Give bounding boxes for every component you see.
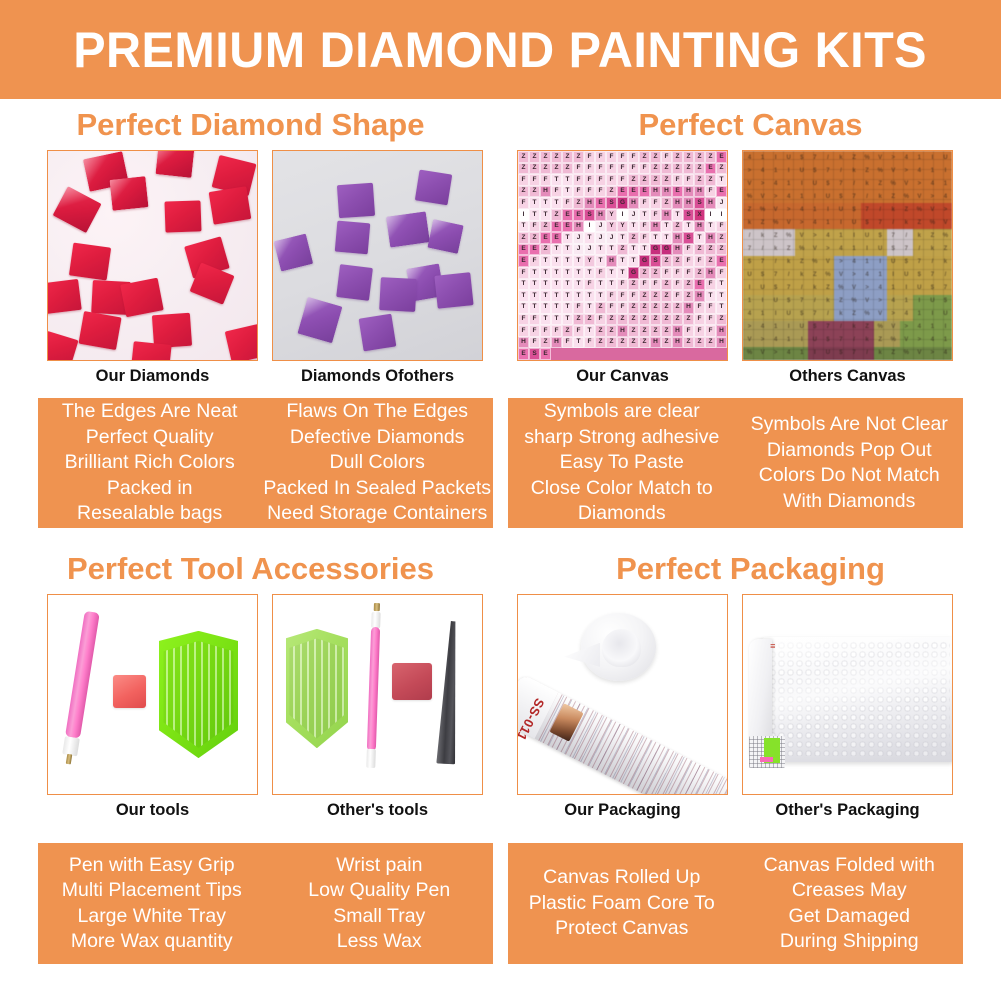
canvas-cell: Z	[683, 163, 694, 175]
canvas-cell: H	[683, 302, 694, 314]
canvas-cell: H	[617, 325, 628, 337]
canvas-cell: F	[705, 279, 716, 291]
canvas-cell: E	[617, 186, 628, 198]
caption-our-canvas: Our Canvas	[517, 367, 728, 386]
canvas-cell: Z	[540, 221, 551, 233]
canvas-cell: G	[661, 244, 672, 256]
canvas-cell: H	[595, 209, 606, 221]
canvas-cell: I	[716, 209, 727, 221]
bullet: Colors Do Not Match	[759, 463, 940, 489]
canvas-cell: F	[584, 337, 595, 349]
red-drills-photo	[48, 151, 257, 360]
canvas-cell: T	[562, 314, 573, 326]
canvas-cell: Z	[650, 163, 661, 175]
canvas-cell: F	[661, 267, 672, 279]
canvas-cell: T	[518, 221, 529, 233]
canvas-cell: T	[551, 290, 562, 302]
canvas-cell: F	[639, 163, 650, 175]
canvas-cell: T	[562, 279, 573, 291]
section-title-packaging: Perfect Packaging	[500, 551, 1001, 587]
page-title: PREMIUM DIAMOND PAINTING KITS	[74, 21, 928, 79]
canvas-cell: F	[584, 186, 595, 198]
canvas-cell: T	[562, 232, 573, 244]
canvas-cell: Z	[595, 337, 606, 349]
canvas-cell: T	[573, 267, 584, 279]
canvas-cell: J	[606, 232, 617, 244]
canvas-cell: Z	[606, 325, 617, 337]
canvas-cell: Z	[683, 151, 694, 163]
canvas-cell: H	[694, 290, 705, 302]
canvas-cell: F	[595, 267, 606, 279]
canvas-cell: Z	[694, 267, 705, 279]
canvas-cell: F	[639, 279, 650, 291]
bullets-diamonds-ofothers: Flaws On The Edges Defective Diamonds Du…	[261, 398, 493, 528]
canvas-cell: T	[529, 197, 540, 209]
image-diamonds-ofothers	[272, 150, 483, 361]
canvas-cell: T	[672, 209, 683, 221]
canvas-cell: T	[573, 337, 584, 349]
canvas-cell: T	[661, 221, 672, 233]
canvas-cell: T	[562, 244, 573, 256]
bullet: Pen with Easy Grip	[69, 853, 235, 879]
canvas-cell: H	[705, 197, 716, 209]
bullet: Creases May	[792, 878, 907, 904]
canvas-cell: Z	[672, 255, 683, 267]
canvas-cell: F	[705, 186, 716, 198]
canvas-cell: I	[705, 209, 716, 221]
canvas-cell: T	[562, 186, 573, 198]
canvas-cell: Z	[562, 163, 573, 175]
canvas-cell: X	[694, 209, 705, 221]
canvas-cell: Z	[617, 337, 628, 349]
bullet: More Wax quantity	[71, 929, 233, 955]
canvas-cell: Z	[661, 255, 672, 267]
canvas-cell: Z	[650, 325, 661, 337]
bullets-our-tools: Pen with Easy Grip Multi Placement Tips …	[38, 843, 266, 964]
symbol-grid-canvas-photo: ZZZZZZFFFFFZZFZZZZEZZZZZFFFFFFFZZZZZEZFF…	[518, 151, 727, 360]
infographic-page: PREMIUM DIAMOND PAINTING KITS Perfect Di…	[0, 0, 1001, 1001]
canvas-cell: F	[529, 174, 540, 186]
image-others-canvas: 41IU$7/kZ%V>41IU>41IU$7/kZ%V>41IV>41IU$7…	[742, 150, 953, 361]
canvas-cell: Z	[716, 163, 727, 175]
bullets-our-canvas: Symbols are clear sharp Strong adhesive …	[508, 398, 736, 528]
canvas-cell: H	[683, 197, 694, 209]
mailer-mark-icon: ≡	[770, 641, 775, 651]
blurry-canvas-photo: 41IU$7/kZ%V>41IU>41IU$7/kZ%V>41IV>41IU$7…	[743, 151, 952, 360]
canvas-cell: Z	[617, 244, 628, 256]
bullet: Flaws On The Edges	[286, 399, 468, 425]
canvas-cell: T	[606, 244, 617, 256]
bullet: Diamonds	[578, 501, 666, 527]
canvas-cell: Z	[716, 314, 727, 326]
canvas-cell: F	[617, 290, 628, 302]
purple-drills-photo	[273, 151, 482, 360]
canvas-cell: Z	[573, 151, 584, 163]
canvas-cell: J	[573, 244, 584, 256]
canvas-cell: F	[540, 325, 551, 337]
canvas-cell: Z	[518, 151, 529, 163]
canvas-cell: H	[551, 337, 562, 349]
canvas-cell: E	[716, 151, 727, 163]
canvas-cell: S	[683, 232, 694, 244]
canvas-cell: F	[639, 232, 650, 244]
canvas-cell: H	[705, 267, 716, 279]
canvas-cell: Z	[573, 197, 584, 209]
canvas-cell: T	[595, 244, 606, 256]
canvas-cell: Z	[672, 221, 683, 233]
bullet: Small Tray	[333, 904, 425, 930]
canvas-cell: Z	[628, 232, 639, 244]
canvas-cell: F	[694, 302, 705, 314]
canvas-cell: F	[650, 197, 661, 209]
canvas-cell: H	[518, 337, 529, 349]
bullet: Easy To Paste	[560, 450, 684, 476]
canvas-cell: Z	[529, 186, 540, 198]
canvas-cell: F	[551, 325, 562, 337]
image-other-packaging: ≡	[742, 594, 953, 795]
canvas-cell: F	[595, 151, 606, 163]
canvas-cell: Z	[562, 325, 573, 337]
canvas-cell: H	[694, 221, 705, 233]
bullets-other-tools: Wrist pain Low Quality Pen Small Tray Le…	[266, 843, 494, 964]
canvas-cell: Z	[639, 174, 650, 186]
canvas-cell: E	[551, 221, 562, 233]
canvas-cell: Z	[606, 186, 617, 198]
canvas-cell: T	[529, 279, 540, 291]
canvas-cell: T	[540, 290, 551, 302]
canvas-cell: Z	[639, 290, 650, 302]
text-block-packaging: Canvas Rolled Up Plastic Foam Core To Pr…	[508, 843, 963, 964]
canvas-cell: Z	[551, 163, 562, 175]
canvas-cell: Z	[540, 151, 551, 163]
canvas-cell: E	[705, 163, 716, 175]
canvas-cell: T	[518, 279, 529, 291]
canvas-cell: Z	[628, 279, 639, 291]
canvas-cell: E	[716, 255, 727, 267]
bullet: Resealable bags	[77, 501, 222, 527]
canvas-cell: F	[606, 151, 617, 163]
canvas-cell: Z	[551, 151, 562, 163]
canvas-cell: T	[628, 255, 639, 267]
canvas-cell: G	[617, 197, 628, 209]
bullet: Dull Colors	[330, 450, 425, 476]
canvas-cell: T	[540, 279, 551, 291]
canvas-cell: T	[573, 290, 584, 302]
canvas-cell: F	[595, 186, 606, 198]
canvas-cell: F	[683, 267, 694, 279]
canvas-cell: J	[595, 232, 606, 244]
section-title-tools: Perfect Tool Accessories	[0, 551, 501, 587]
canvas-cell: T	[584, 325, 595, 337]
canvas-cell: T	[716, 302, 727, 314]
canvas-cell: E	[694, 279, 705, 291]
canvas-cell: G	[639, 255, 650, 267]
canvas-cell: F	[518, 174, 529, 186]
bullet: The Edges Are Neat	[62, 399, 238, 425]
canvas-cell: F	[617, 279, 628, 291]
canvas-cell: F	[617, 174, 628, 186]
canvas-cell: T	[650, 232, 661, 244]
canvas-cell: F	[716, 267, 727, 279]
canvas-cell: Z	[650, 174, 661, 186]
canvas-cell: F	[573, 163, 584, 175]
canvas-cell: T	[540, 209, 551, 221]
canvas-cell: G	[650, 244, 661, 256]
canvas-cell: T	[540, 255, 551, 267]
bullet: Canvas Folded with	[764, 853, 935, 879]
canvas-cell: T	[551, 302, 562, 314]
canvas-cell: Z	[628, 325, 639, 337]
canvas-cell: Y	[584, 255, 595, 267]
bullet: Symbols Are Not Clear	[751, 412, 948, 438]
canvas-cell: T	[573, 255, 584, 267]
canvas-cell: F	[606, 174, 617, 186]
canvas-cell: Z	[672, 151, 683, 163]
canvas-cell: F	[606, 290, 617, 302]
canvas-cell: Z	[705, 255, 716, 267]
bullets-our-packaging: Canvas Rolled Up Plastic Foam Core To Pr…	[508, 843, 736, 964]
bullet: With Diamonds	[783, 489, 915, 515]
bullet: Multi Placement Tips	[62, 878, 242, 904]
foam-core-cap	[581, 613, 656, 681]
canvas-cell: T	[584, 302, 595, 314]
canvas-cell: Z	[650, 290, 661, 302]
canvas-cell: H	[683, 186, 694, 198]
canvas-cell: F	[694, 314, 705, 326]
canvas-cell: Z	[661, 337, 672, 349]
canvas-cell: T	[584, 232, 595, 244]
canvas-cell: Z	[518, 232, 529, 244]
canvas-cell: Z	[705, 337, 716, 349]
canvas-cell: S	[683, 209, 694, 221]
bullet: Large White Tray	[78, 904, 226, 930]
canvas-cell: Z	[628, 314, 639, 326]
canvas-cell: S	[694, 197, 705, 209]
canvas-cell: T	[551, 244, 562, 256]
canvas-cell: Z	[672, 314, 683, 326]
canvas-cell: F	[705, 314, 716, 326]
canvas-cell: T	[595, 255, 606, 267]
canvas-cell: F	[518, 267, 529, 279]
canvas-cell: Z	[529, 163, 540, 175]
canvas-cell: F	[573, 186, 584, 198]
canvas-cell: T	[540, 267, 551, 279]
canvas-cell: F	[617, 151, 628, 163]
canvas-cell: I	[584, 221, 595, 233]
canvas-cell: H	[672, 325, 683, 337]
canvas-cell: F	[562, 197, 573, 209]
canvas-cell: Z	[650, 267, 661, 279]
canvas-cell: E	[518, 255, 529, 267]
canvas-cell: T	[551, 314, 562, 326]
green-drill-tray	[159, 631, 238, 758]
canvas-cell: Z	[694, 337, 705, 349]
canvas-cell: F	[716, 221, 727, 233]
canvas-cell: Z	[639, 325, 650, 337]
canvas-cell: T	[716, 290, 727, 302]
canvas-cell: T	[716, 174, 727, 186]
canvas-cell: E	[562, 209, 573, 221]
canvas-cell: Z	[529, 151, 540, 163]
canvas-cell: Z	[595, 302, 606, 314]
canvas-cell: Z	[584, 314, 595, 326]
bullet: Symbols are clear	[544, 399, 700, 425]
canvas-cell: F	[672, 290, 683, 302]
canvas-cell: T	[683, 221, 694, 233]
canvas-cell: Z	[705, 174, 716, 186]
canvas-cell: Z	[540, 337, 551, 349]
rolled-tube-photo: SS-011	[518, 595, 727, 794]
canvas-cell: E	[573, 209, 584, 221]
image-our-tools	[47, 594, 258, 795]
bullets-others-canvas: Symbols Are Not Clear Diamonds Pop Out C…	[736, 398, 964, 528]
canvas-cell: H	[672, 337, 683, 349]
canvas-cell: T	[705, 221, 716, 233]
canvas-cell: Z	[606, 337, 617, 349]
canvas-cell: H	[672, 232, 683, 244]
canvas-cell: J	[716, 197, 727, 209]
bullet: Packed in	[107, 476, 193, 502]
canvas-cell: Z	[518, 186, 529, 198]
canvas-cell: F	[617, 302, 628, 314]
canvas-cell: Z	[650, 314, 661, 326]
wax-square-small	[392, 663, 432, 701]
canvas-cell: S	[606, 197, 617, 209]
canvas-cell: T	[573, 279, 584, 291]
canvas-cell: F	[694, 255, 705, 267]
canvas-cell: T	[551, 174, 562, 186]
canvas-cell: E	[518, 244, 529, 256]
canvas-cell: F	[683, 325, 694, 337]
canvas-cell: E	[551, 232, 562, 244]
canvas-cell: T	[540, 302, 551, 314]
canvas-cell: T	[518, 290, 529, 302]
canvas-cell: Y	[617, 221, 628, 233]
image-our-canvas: ZZZZZZFFFFFZZFZZZZEZZZZZFFFFFFFZZZZZEZFF…	[517, 150, 728, 361]
canvas-cell: Z	[650, 302, 661, 314]
canvas-cell: E	[628, 186, 639, 198]
canvas-cell: T	[529, 209, 540, 221]
canvas-cell: T	[540, 314, 551, 326]
canvas-cell: F	[694, 325, 705, 337]
canvas-cell: Z	[661, 163, 672, 175]
canvas-cell: J	[584, 244, 595, 256]
canvas-cell: Z	[639, 267, 650, 279]
canvas-cell: T	[518, 302, 529, 314]
canvas-cell: T	[617, 232, 628, 244]
canvas-cell: E	[672, 186, 683, 198]
canvas-cell: H	[573, 221, 584, 233]
canvas-cell: F	[639, 221, 650, 233]
canvas-cell: E	[639, 186, 650, 198]
bubble-mailer	[762, 637, 952, 762]
canvas-cell: F	[672, 279, 683, 291]
canvas-cell: F	[584, 151, 595, 163]
canvas-cell: H	[672, 197, 683, 209]
bullet: Protect Canvas	[555, 916, 688, 942]
canvas-cell: F	[529, 337, 540, 349]
canvas-cell: I	[518, 209, 529, 221]
canvas-cell: E	[529, 244, 540, 256]
canvas-cell: T	[705, 290, 716, 302]
canvas-cell: Z	[716, 244, 727, 256]
canvas-cell: F	[705, 302, 716, 314]
canvas-cell: I	[617, 209, 628, 221]
canvas-cell: Z	[672, 163, 683, 175]
canvas-cell: F	[529, 255, 540, 267]
canvas-cell: T	[661, 232, 672, 244]
canvas-cell: T	[595, 279, 606, 291]
canvas-cell: Z	[518, 163, 529, 175]
canvas-cell: F	[650, 209, 661, 221]
canvas-cell: T	[540, 197, 551, 209]
canvas-cell: Z	[683, 337, 694, 349]
canvas-cell: T	[595, 290, 606, 302]
our-tools-photo	[48, 595, 257, 794]
image-our-diamonds	[47, 150, 258, 361]
caption-our-tools: Our tools	[47, 801, 258, 820]
wax-square	[113, 675, 146, 709]
canvas-cell: Z	[639, 151, 650, 163]
caption-our-diamonds: Our Diamonds	[47, 367, 258, 386]
canvas-cell: F	[672, 174, 683, 186]
canvas-cell: T	[529, 267, 540, 279]
canvas-cell: T	[628, 221, 639, 233]
canvas-cell: Z	[672, 302, 683, 314]
canvas-cell: F	[562, 337, 573, 349]
canvas-cell: F	[705, 325, 716, 337]
canvas-cell: Z	[683, 314, 694, 326]
canvas-cell: T	[562, 267, 573, 279]
canvas-cell: T	[694, 232, 705, 244]
canvas-cell: T	[617, 255, 628, 267]
canvas-cell: F	[518, 325, 529, 337]
canvas-cell: Z	[661, 174, 672, 186]
canvas-cell: T	[551, 255, 562, 267]
canvas-cell: H	[606, 255, 617, 267]
canvas-cell: F	[573, 302, 584, 314]
canvas-cell: H	[650, 337, 661, 349]
canvas-cell: T	[606, 279, 617, 291]
canvas-cell: F	[661, 151, 672, 163]
bullet: Wrist pain	[336, 853, 422, 879]
caption-other-tools: Other's tools	[272, 801, 483, 820]
bullet: Canvas Rolled Up	[543, 865, 700, 891]
canvas-cell: E	[562, 221, 573, 233]
canvas-cell: J	[628, 209, 639, 221]
canvas-cell: F	[540, 174, 551, 186]
mailer-contents	[749, 736, 785, 768]
canvas-cell: Z	[694, 151, 705, 163]
bullet: During Shipping	[780, 929, 919, 955]
canvas-cell: Z	[606, 314, 617, 326]
canvas-cell: Z	[639, 302, 650, 314]
canvas-cell: H	[661, 209, 672, 221]
caption-others-canvas: Others Canvas	[742, 367, 953, 386]
canvas-cell: T	[551, 197, 562, 209]
canvas-cell: T	[562, 302, 573, 314]
bubble-mailer-photo: ≡	[743, 595, 952, 794]
canvas-cell: Z	[683, 290, 694, 302]
bullet: Perfect Quality	[86, 425, 214, 451]
bullet: Brilliant Rich Colors	[65, 450, 235, 476]
canvas-cell: T	[529, 290, 540, 302]
canvas-cell: Z	[705, 151, 716, 163]
other-tools-photo	[273, 595, 482, 794]
bullet: Close Color Match to	[531, 476, 713, 502]
bullet: sharp Strong adhesive	[524, 425, 719, 451]
canvas-cell: Z	[661, 290, 672, 302]
